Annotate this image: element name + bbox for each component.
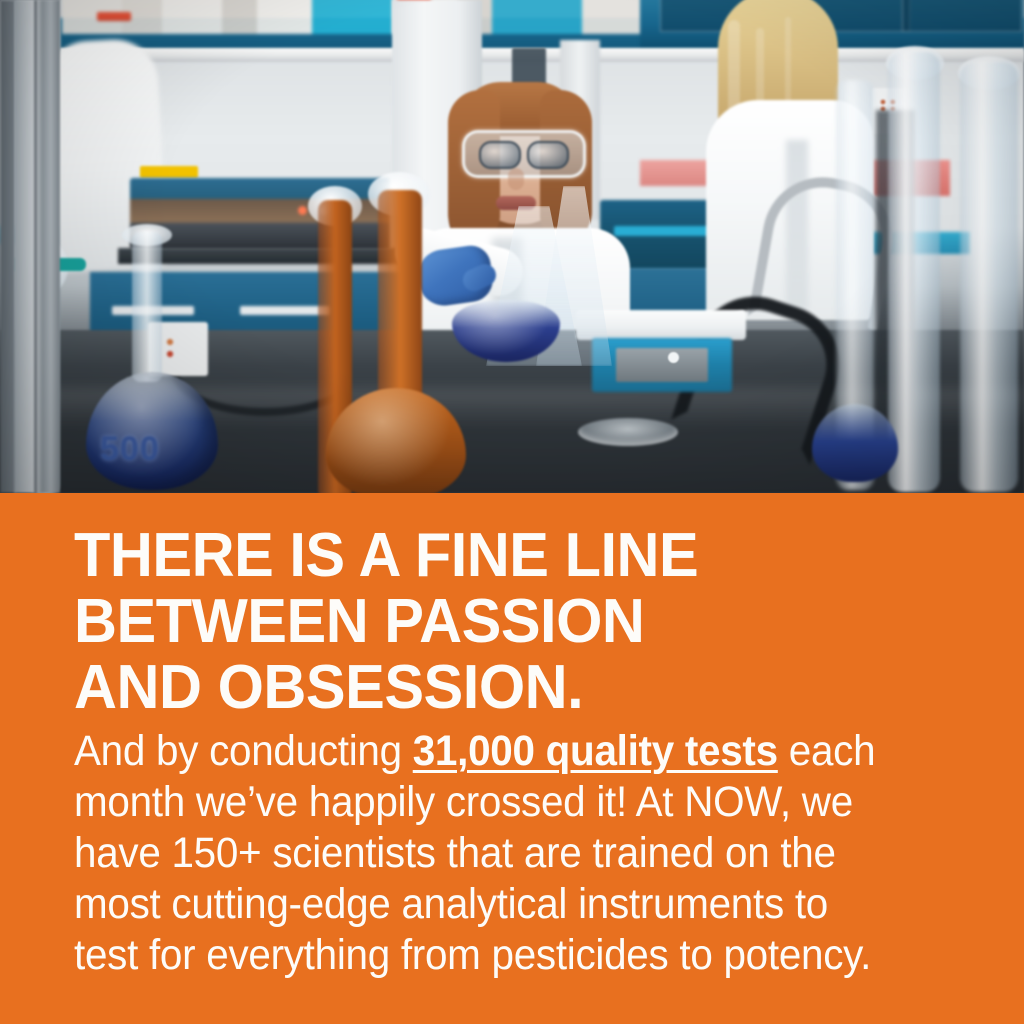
flask-neck	[132, 232, 162, 382]
quality-tests-highlight: 31,000 quality tests	[413, 727, 778, 775]
glass-dish	[578, 418, 678, 446]
orange-content-panel: THERE IS A FINE LINE BETWEEN PASSION AND…	[0, 493, 1024, 1024]
cabinet-handle	[240, 306, 330, 315]
cabinet-pane	[902, 0, 1022, 32]
body-copy: And by conducting 31,000 quality tests e…	[74, 726, 901, 981]
balance-knob	[668, 352, 679, 363]
instrument-yellow-label	[140, 166, 198, 178]
goggle-lens	[479, 141, 521, 169]
headline: THERE IS A FINE LINE BETWEEN PASSION AND…	[74, 523, 938, 721]
safety-goggles-icon	[462, 130, 586, 178]
poster: THERE IS A FINE LINE BETWEEN PASSION AND…	[0, 0, 1024, 1024]
lab-scene	[0, 0, 1024, 493]
lab-photo	[0, 0, 1024, 493]
indicator-led	[298, 206, 307, 215]
goggle-lens	[527, 141, 569, 169]
glass-cylinder-mid	[888, 52, 940, 492]
vertical-post-left	[14, 0, 60, 493]
balance-display	[616, 348, 708, 382]
nose	[508, 168, 524, 190]
body-copy-before: And by conducting	[74, 727, 413, 775]
glass-cylinder-front	[960, 62, 1018, 492]
